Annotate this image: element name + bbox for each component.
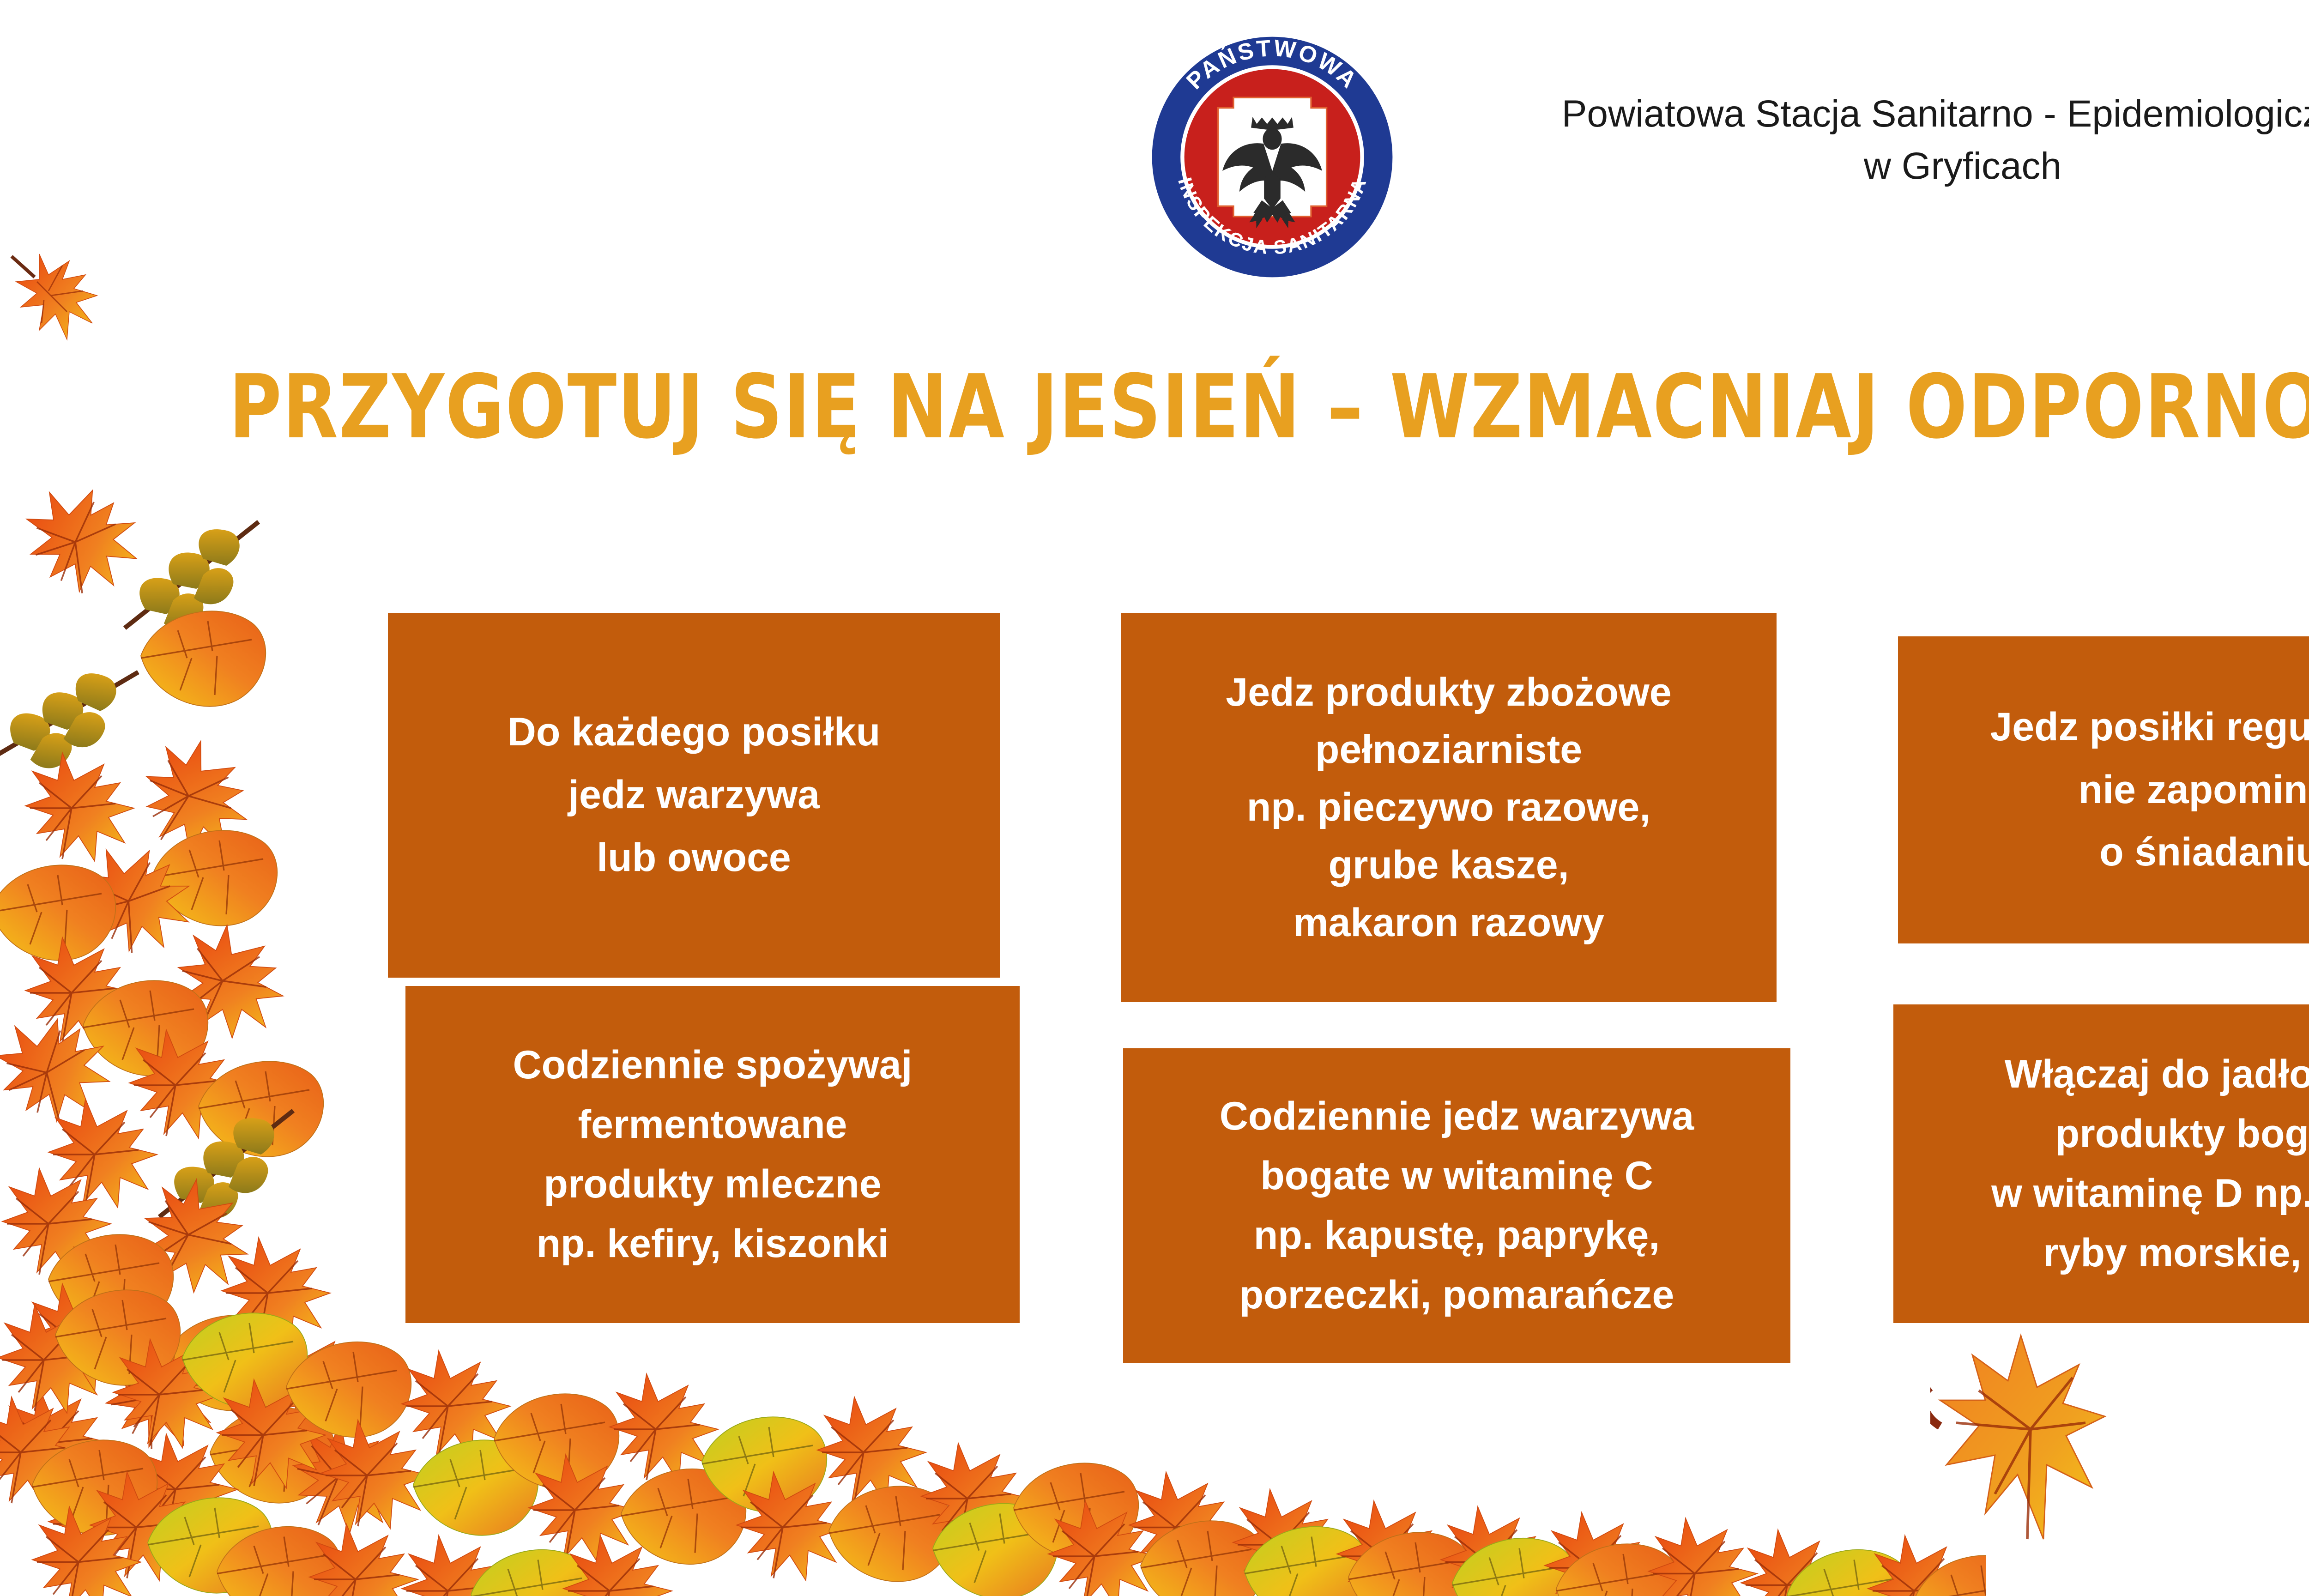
tip-box-wholegrain-products: Jedz produkty zbożowe pełnoziarniste np.… [1121, 613, 1777, 1002]
tip-line: nie zapominaj [2079, 759, 2309, 822]
tip-line: produkty mleczne [544, 1155, 881, 1214]
tip-line: Włączaj do jadłospisu [2005, 1045, 2309, 1104]
tip-line: Do każdego posiłku [508, 701, 881, 764]
tip-line: makaron razowy [1293, 894, 1604, 952]
poster-canvas: PAŃSTWOWA INSPEKCJA SANITARNA Powiatowa … [0, 0, 2309, 1596]
organization-name-line-2: w Gryficach [1413, 140, 2309, 192]
tip-line: np. pieczywo razowe, [1247, 779, 1651, 836]
tip-line: ryby morskie, jaja [2043, 1223, 2309, 1283]
tip-line: Jedz posiłki regularnie, [1990, 696, 2309, 759]
autumn-leaves-left-decoration [0, 471, 443, 1533]
tip-line: np. kapustę, paprykę, [1254, 1206, 1660, 1265]
tip-line: grube kasze, [1329, 836, 1569, 894]
tip-line: Codziennie jedz warzywa [1220, 1087, 1694, 1146]
tip-line: o śniadaniu [2099, 821, 2309, 884]
tip-line: Codziennie spożywaj [513, 1035, 913, 1095]
tip-line: lub owoce [597, 827, 791, 889]
tip-line: pełnoziarniste [1315, 721, 1582, 779]
organization-name: Powiatowa Stacja Sanitarno - Epidemiolog… [1413, 88, 2309, 192]
tip-box-regular-meals-breakfast: Jedz posiłki regularnie, nie zapominaj o… [1898, 636, 2309, 943]
tip-box-vitamin-d-products: Włączaj do jadłospisu produkty bogate w … [1893, 1004, 2309, 1323]
tip-line: np. kefiry, kiszonki [536, 1214, 889, 1274]
tip-box-vegetables-every-meal: Do każdego posiłku jedz warzywa lub owoc… [388, 613, 1000, 978]
autumn-leaf-icon [1930, 1330, 2124, 1561]
tip-line: porzeczki, pomarańcze [1239, 1265, 1674, 1325]
tip-line: produkty bogate [2055, 1104, 2309, 1164]
poster-title: PRZYGOTUJ SIĘ NA JESIEŃ – WZMACNIAJ ODPO… [0, 356, 2309, 458]
tip-box-fermented-dairy: Codziennie spożywaj fermentowane produkt… [405, 986, 1020, 1323]
sanitary-inspection-logo: PAŃSTWOWA INSPEKCJA SANITARNA [1143, 28, 1402, 286]
organization-name-line-1: Powiatowa Stacja Sanitarno - Epidemiolog… [1413, 88, 2309, 140]
poster-header: PAŃSTWOWA INSPEKCJA SANITARNA Powiatowa … [0, 0, 2309, 286]
tip-line: bogate w witaminę C [1260, 1146, 1653, 1206]
tip-line: jedz warzywa [568, 764, 820, 827]
tip-line: Jedz produkty zbożowe [1226, 664, 1671, 721]
tip-box-vitamin-c-vegetables: Codziennie jedz warzywa bogate w witamin… [1123, 1048, 1790, 1363]
tip-line: w witaminę D np. tłuste [1991, 1164, 2309, 1223]
tip-line: fermentowane [578, 1095, 847, 1155]
